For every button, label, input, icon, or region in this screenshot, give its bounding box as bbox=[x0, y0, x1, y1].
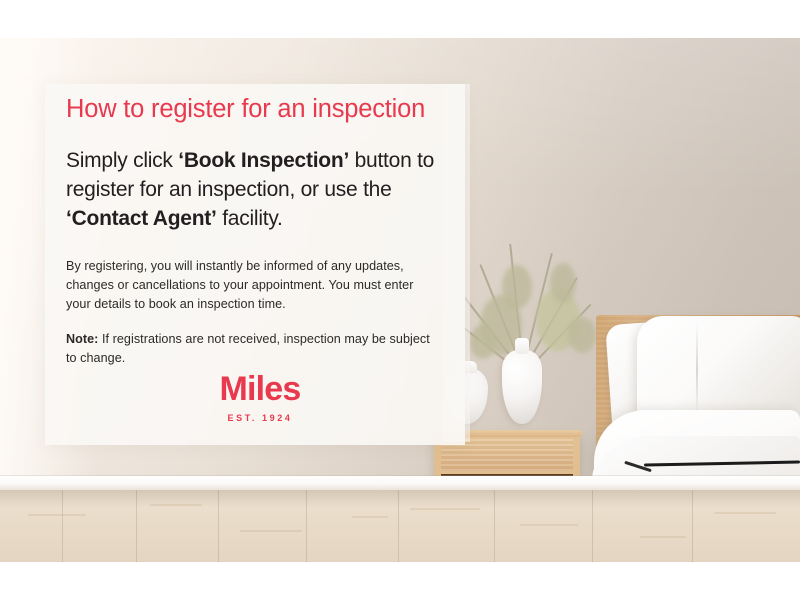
lede-pre: Simply click bbox=[66, 149, 178, 172]
logo-wordmark: Miles bbox=[213, 372, 307, 406]
contact-agent-emphasis: ‘Contact Agent’ bbox=[66, 207, 217, 230]
note-text: If registrations are not received, inspe… bbox=[66, 332, 430, 365]
page-title: How to register for an inspection bbox=[66, 94, 458, 125]
lede-paragraph: Simply click ‘Book Inspection’ button to… bbox=[66, 146, 456, 234]
skirting-board bbox=[0, 476, 800, 490]
body-paragraph: By registering, you will instantly be in… bbox=[66, 257, 441, 314]
note-paragraph: Note: If registrations are not received,… bbox=[66, 330, 441, 368]
note-label: Note: bbox=[66, 332, 98, 346]
floor-shadow bbox=[0, 490, 800, 508]
info-card-content: How to register for an inspection Simply… bbox=[66, 94, 458, 368]
logo-established: EST. 1924 bbox=[213, 413, 307, 423]
miles-logo: Miles EST. 1924 bbox=[213, 372, 307, 423]
image-canvas: How to register for an inspection Simply… bbox=[0, 0, 800, 600]
lede-post: facility. bbox=[217, 207, 283, 230]
book-inspection-emphasis: ‘Book Inspection’ bbox=[178, 149, 349, 172]
